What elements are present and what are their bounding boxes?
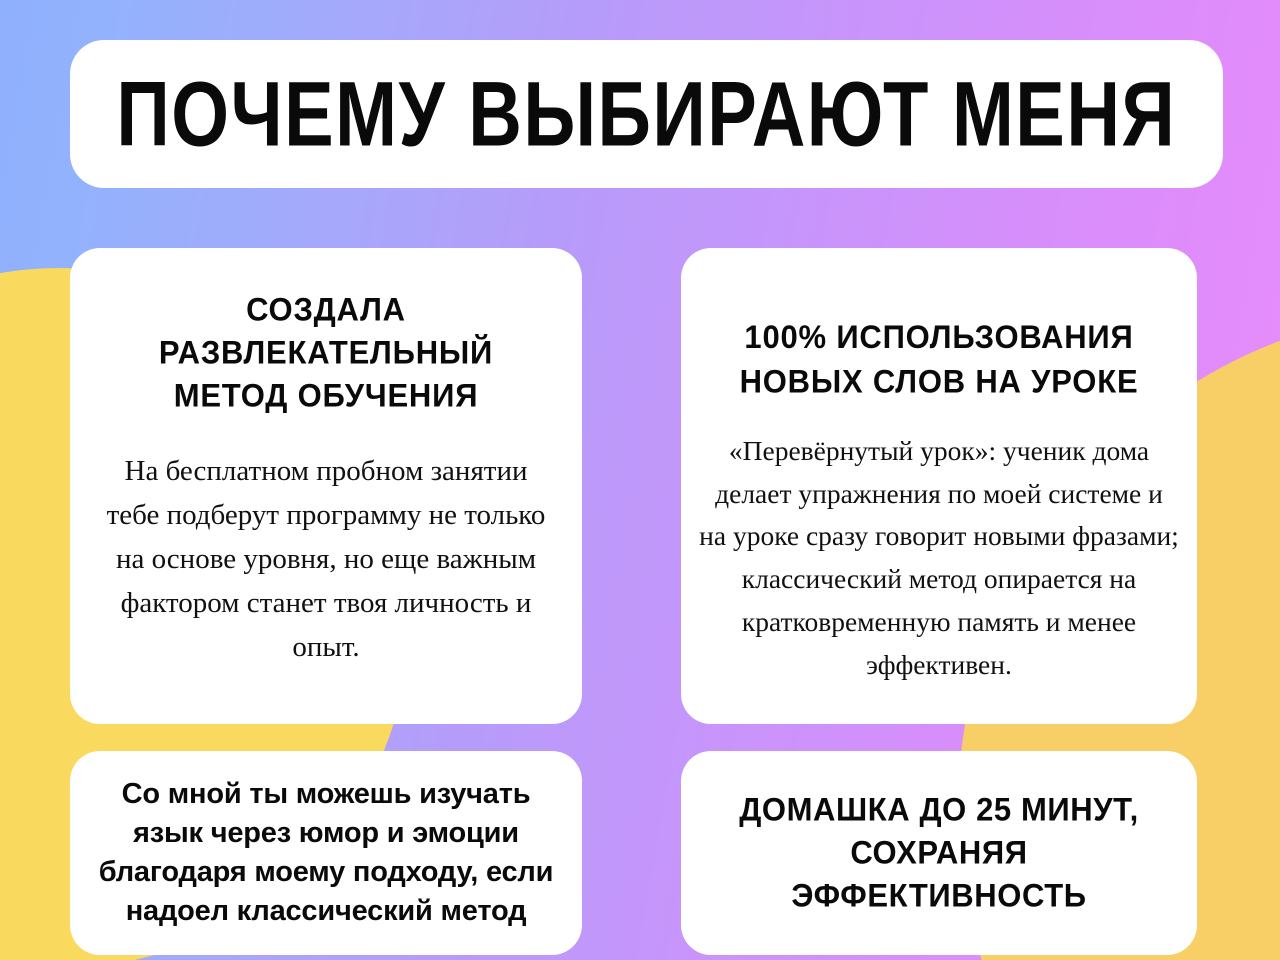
card-content: ДОМАШКА ДО 25 МИНУТ, СОХРАНЯЯ ЭФФЕКТИВНО… [681,751,1197,955]
card-statement-text: ДОМАШКА ДО 25 МИНУТ, СОХРАНЯЯ ЭФФЕКТИВНО… [681,789,1197,918]
poster-canvas: ПОЧЕМУ ВЫБИРАЮТ МЕНЯ СОЗДАЛА РАЗВЛЕКАТЕЛ… [0,0,1280,960]
card-heading: СОЗДАЛА РАЗВЛЕКАТЕЛЬНЫЙ МЕТОД ОБУЧЕНИЯ [70,244,582,418]
feature-card-learn-through-humor: Со мной ты можешь изучать язык через юмо… [70,751,582,955]
card-heading: 100% ИСПОЛЬЗОВАНИЯ НОВЫХ СЛОВ НА УРОКЕ [681,244,1197,403]
card-content: 100% ИСПОЛЬЗОВАНИЯ НОВЫХ СЛОВ НА УРОКЕ «… [681,248,1197,724]
card-statement-text: Со мной ты можешь изучать язык через юмо… [70,775,582,930]
card-body-text: «Перевёрнутый урок»: ученик дома делает … [681,400,1197,687]
card-content: СОЗДАЛА РАЗВЛЕКАТЕЛЬНЫЙ МЕТОД ОБУЧЕНИЯ Н… [70,248,582,724]
page-title: ПОЧЕМУ ВЫБИРАЮТ МЕНЯ [117,68,1177,160]
feature-card-hundred-percent-new-words: 100% ИСПОЛЬЗОВАНИЯ НОВЫХ СЛОВ НА УРОКЕ «… [681,248,1197,724]
feature-card-created-entertaining-method: СОЗДАЛА РАЗВЛЕКАТЕЛЬНЫЙ МЕТОД ОБУЧЕНИЯ Н… [70,248,582,724]
card-content: Со мной ты можешь изучать язык через юмо… [70,751,582,955]
card-body-text: На бесплатном пробном занятии тебе подбе… [70,414,582,669]
feature-card-homework-25-minutes: ДОМАШКА ДО 25 МИНУТ, СОХРАНЯЯ ЭФФЕКТИВНО… [681,751,1197,955]
title-card: ПОЧЕМУ ВЫБИРАЮТ МЕНЯ [70,40,1223,188]
